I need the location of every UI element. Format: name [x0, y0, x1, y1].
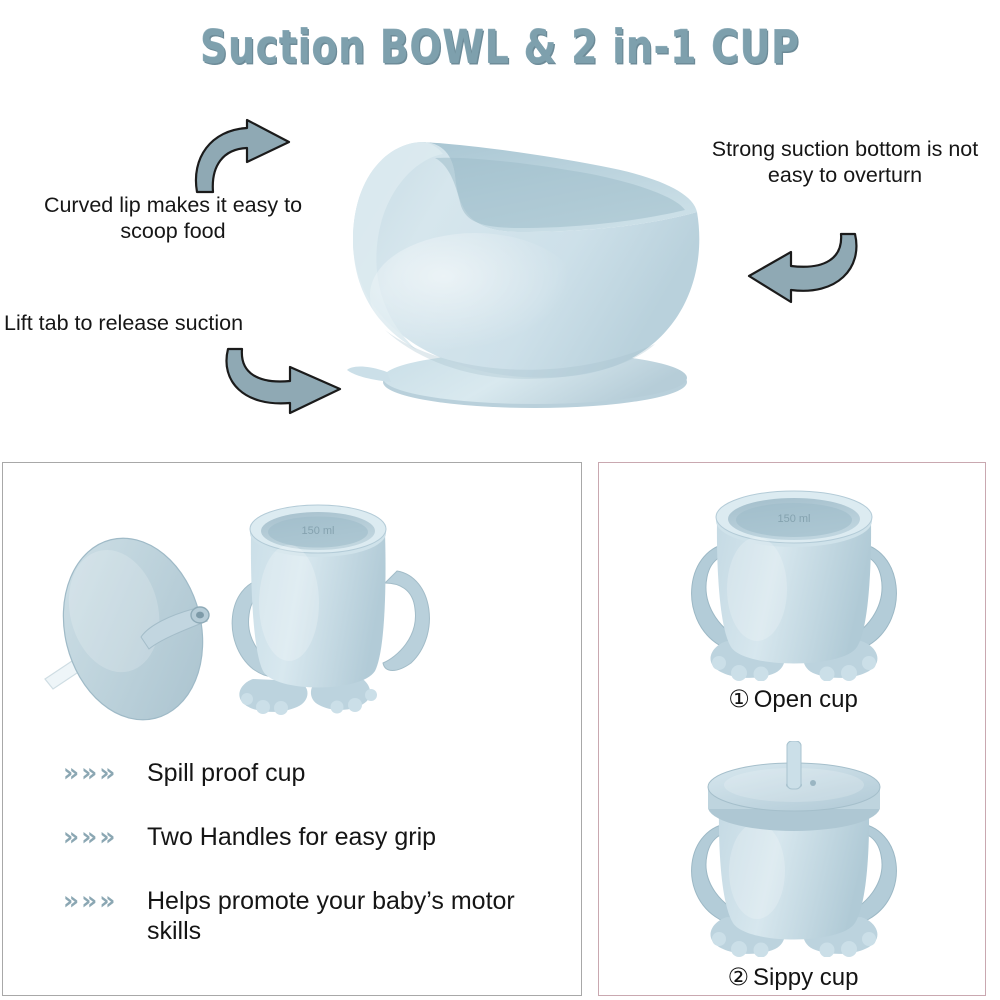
hero-section: Curved lip makes it easy to scoop food L… [0, 100, 1000, 440]
sippy-cup-illustration [661, 741, 927, 962]
mode-caption-sippy-cup: ②Sippy cup [599, 963, 987, 992]
annotation-strong-suction: Strong suction bottom is not easy to ove… [690, 136, 1000, 188]
page-title: Suction BOWL & 2 in-1 CUP [90, 20, 910, 74]
feature-bullet-list: »»» Spill proof cup »»» Two Handles for … [63, 758, 563, 980]
cup-body: 150 ml [232, 505, 429, 715]
left-feature-panel: 150 ml »»» Spill proof cup »»» Two Handl… [2, 462, 582, 996]
list-item: »»» Spill proof cup [63, 758, 563, 788]
curved-lip-arrow [185, 118, 295, 201]
bullet-text: Helps promote your baby’s motor skills [147, 886, 563, 946]
list-item: »»» Two Handles for easy grip [63, 822, 563, 852]
cup-with-lid-illustration: 150 ml [23, 489, 543, 744]
chevron-triple-icon: »»» [63, 758, 147, 786]
bullet-text: Spill proof cup [147, 758, 563, 788]
chevron-triple-icon: »»» [63, 822, 147, 850]
strong-suction-arrow [745, 230, 865, 311]
cup-volume-marking-right: 150 ml [777, 513, 810, 525]
bullet-text: Two Handles for easy grip [147, 822, 563, 852]
list-item: »»» Helps promote your baby’s motor skil… [63, 886, 563, 946]
annotation-lift-tab: Lift tab to release suction [4, 310, 324, 336]
mode-label: Sippy cup [753, 964, 858, 991]
lift-tab-arrow [218, 345, 348, 422]
chevron-triple-icon: »»» [63, 886, 147, 914]
open-cup-illustration: 150 ml [661, 485, 927, 686]
mode-label: Open cup [754, 686, 858, 713]
bowl-body [353, 142, 699, 379]
mode-caption-open-cup: ①Open cup [599, 685, 987, 714]
circled-number-2-icon: ② [728, 963, 750, 991]
cup-volume-marking-left: 150 ml [301, 525, 334, 537]
cup-lid [45, 523, 221, 734]
suction-bowl-illustration [325, 120, 725, 420]
right-modes-panel: 150 ml ①Open cup [598, 462, 986, 996]
annotation-curved-lip: Curved lip makes it easy to scoop food [18, 192, 328, 244]
infographic-page: Suction BOWL & 2 in-1 CUP [0, 0, 1000, 1000]
circled-number-1-icon: ① [728, 685, 750, 713]
